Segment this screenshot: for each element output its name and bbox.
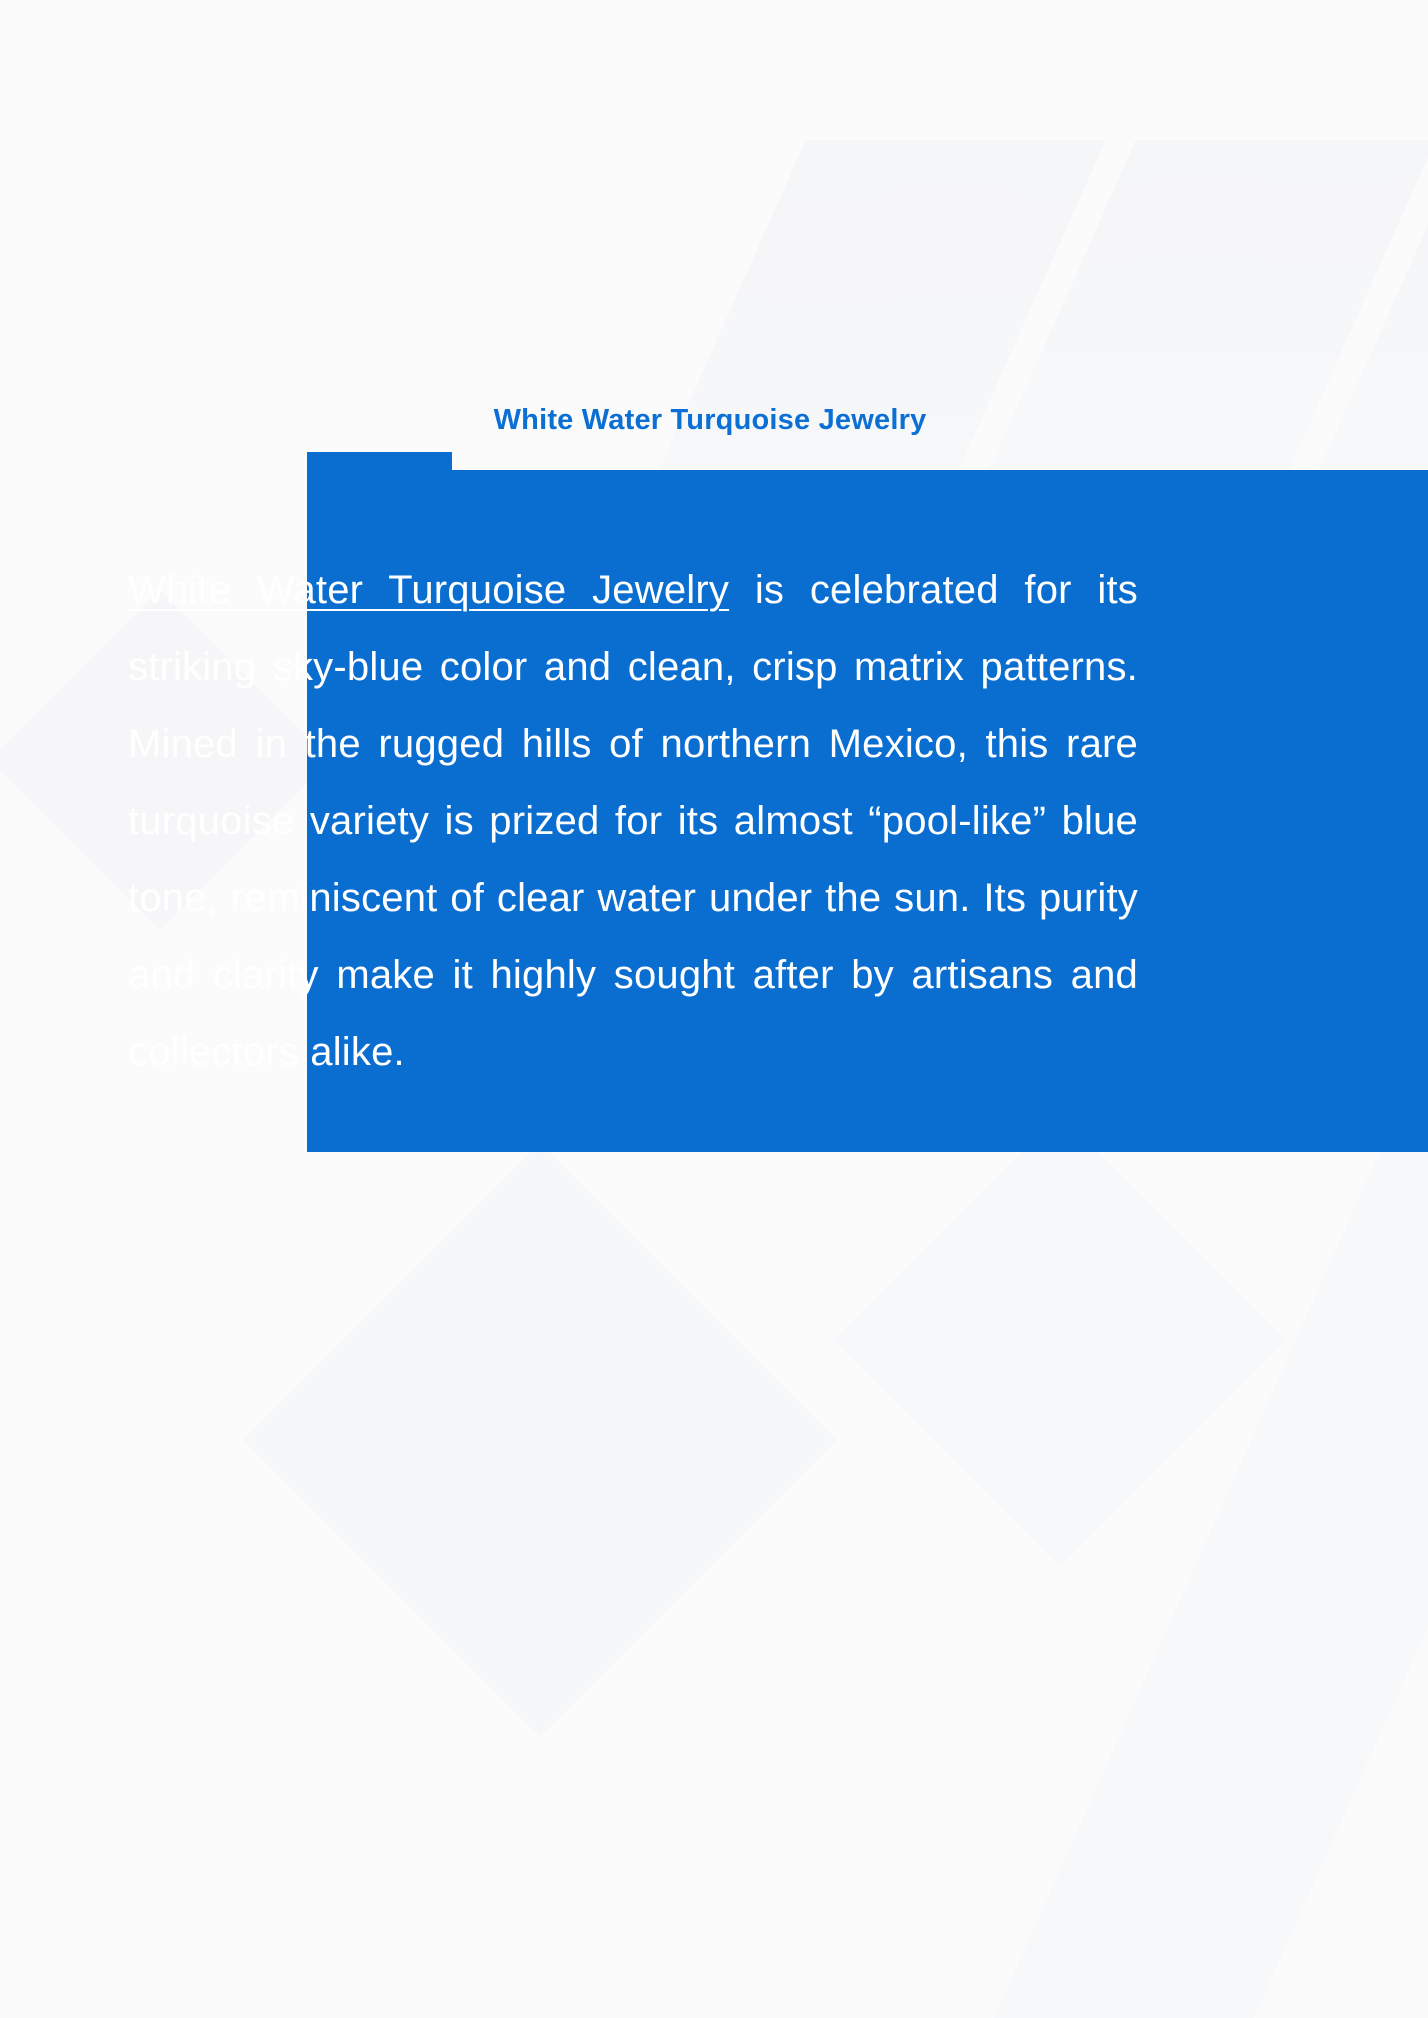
background-diamond-shape-3 (834, 1114, 1287, 1567)
page-canvas: White Water Turquoise Jewelry White Wate… (0, 0, 1428, 2018)
card-paragraph: White Water Turquoise Jewelry is celebra… (128, 552, 1138, 1091)
background-diamond-shape-2 (243, 1143, 837, 1737)
page-title: White Water Turquoise Jewelry (0, 404, 1420, 437)
card-body-text: is celebrated for its striking sky-blue … (128, 568, 1138, 1074)
background-chevron-shape-4 (980, 1150, 1428, 2018)
card-lead-phrase: White Water Turquoise Jewelry (128, 568, 729, 612)
